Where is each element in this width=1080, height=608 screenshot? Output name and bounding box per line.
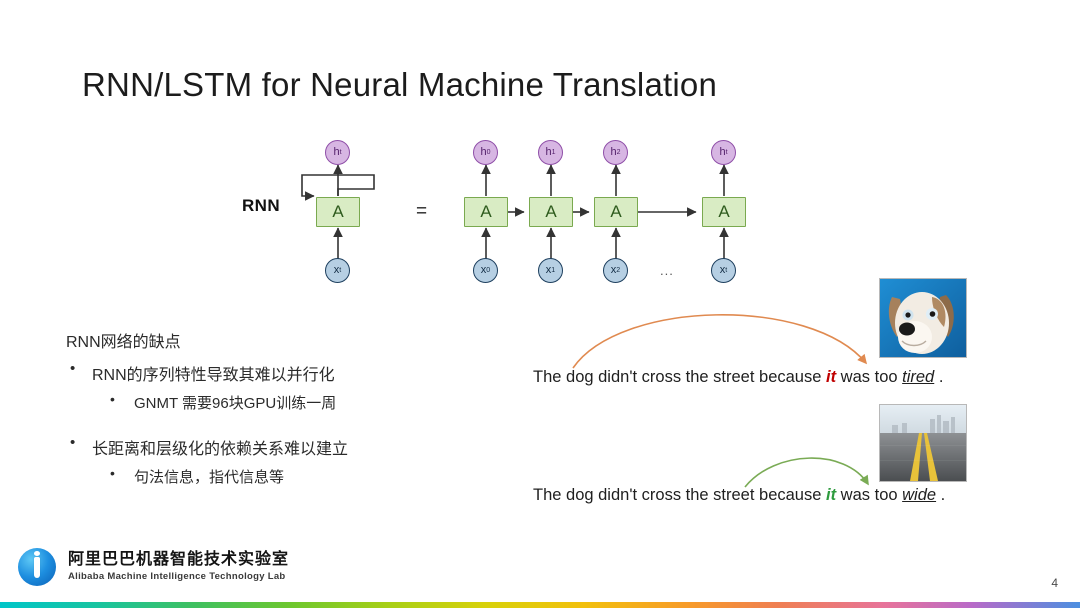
- bullet-item-1: RNN的序列特性导致其难以并行化: [66, 361, 496, 385]
- rnn-diagram: RNN =: [228, 143, 768, 283]
- bullet-item-1-sub: GNMT 需要96块GPU训练一周: [66, 392, 496, 413]
- hidden-node-0: h0: [473, 140, 498, 165]
- bullet-heading: RNN网络的缺点: [66, 328, 496, 352]
- rnn-cell-1: A: [529, 197, 573, 227]
- sentence-2-prefix: The dog didn't cross the street because: [533, 486, 826, 504]
- input-node-0-sub: 0: [486, 267, 490, 274]
- dog-photo-art: [880, 279, 966, 357]
- bullet-list: RNN网络的缺点 RNN的序列特性导致其难以并行化 GNMT 需要96块GPU训…: [66, 328, 496, 487]
- rnn-cell-folded: A: [316, 197, 360, 227]
- input-node-2-sub: 2: [616, 267, 620, 274]
- company-name-en: Alibaba Machine Intelligence Technology …: [68, 572, 289, 583]
- input-node-1: x1: [538, 258, 563, 283]
- footer-logo: 阿里巴巴机器智能技术实验室 Alibaba Machine Intelligen…: [18, 548, 289, 586]
- sentence-2-pronoun: it: [826, 486, 836, 504]
- bullet-item-2-sub: 句法信息，指代信息等: [66, 466, 496, 487]
- slide-canvas: RNN/LSTM for Neural Machine Translation …: [0, 0, 1080, 608]
- hidden-node-2: h2: [603, 140, 628, 165]
- sentence-1-pronoun: it: [826, 368, 836, 386]
- rnn-cell-0: A: [464, 197, 508, 227]
- page-title: RNN/LSTM for Neural Machine Translation: [82, 66, 717, 104]
- sentence-1-suffix: .: [934, 368, 943, 386]
- sentence-1-middle: was too: [836, 368, 902, 386]
- rnn-cell-t: A: [702, 197, 746, 227]
- example-sentence-1: The dog didn't cross the street because …: [533, 368, 943, 387]
- footer-logo-text: 阿里巴巴机器智能技术实验室 Alibaba Machine Intelligen…: [68, 551, 289, 582]
- road-photo: [879, 404, 967, 482]
- input-node-t-sub: t: [725, 267, 727, 274]
- arrow-dog-to-it: [573, 315, 866, 368]
- sentence-1-adjective: tired: [902, 368, 934, 386]
- arrow-street-to-it: [745, 458, 868, 487]
- hidden-node-t-sub: t: [726, 149, 728, 156]
- bullet-item-2: 长距离和层级化的依赖关系难以建立: [66, 435, 496, 459]
- road-photo-art: [880, 405, 966, 481]
- page-number: 4: [1051, 576, 1058, 590]
- hidden-node-2-sub: 2: [617, 149, 621, 156]
- sentence-2-suffix: .: [936, 486, 945, 504]
- company-name-cn: 阿里巴巴机器智能技术实验室: [68, 551, 289, 569]
- input-node-1-sub: 1: [551, 267, 555, 274]
- diagram-ellipsis: ...: [660, 263, 674, 278]
- input-node-2: x2: [603, 258, 628, 283]
- hidden-node-sub: t: [340, 149, 342, 156]
- hidden-node-t: ht: [711, 140, 736, 165]
- sentence-2-adjective: wide: [902, 486, 936, 504]
- rnn-cell-2: A: [594, 197, 638, 227]
- input-node-t: xt: [711, 258, 736, 283]
- alibaba-i-logo-icon: [18, 548, 56, 586]
- input-node-sub: t: [339, 267, 341, 274]
- rainbow-footer-bar: [0, 602, 1080, 608]
- input-node-0: x0: [473, 258, 498, 283]
- hidden-node-1-sub: 1: [552, 149, 556, 156]
- hidden-node-0-sub: 0: [487, 149, 491, 156]
- input-node-folded: xt: [325, 258, 350, 283]
- hidden-node-1: h1: [538, 140, 563, 165]
- sentence-2-middle: was too: [836, 486, 902, 504]
- example-sentence-2: The dog didn't cross the street because …: [533, 486, 945, 505]
- sentence-1-prefix: The dog didn't cross the street because: [533, 368, 826, 386]
- hidden-node-folded: ht: [325, 140, 350, 165]
- dog-photo: [879, 278, 967, 358]
